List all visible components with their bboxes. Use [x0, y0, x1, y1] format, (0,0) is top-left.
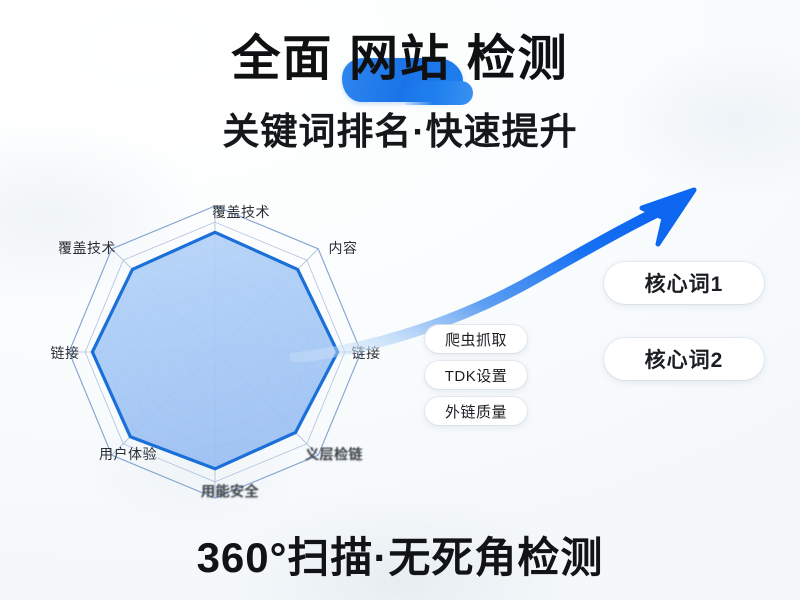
keyword-tag-核心词2[interactable]: 核心词2 [604, 338, 764, 380]
radar-axis-label-6: 链接 [51, 343, 80, 363]
feature-tag-爬虫抓取[interactable]: 爬虫抓取 [425, 325, 527, 353]
page-subtitle: 关键词排名·快速提升 [0, 101, 800, 155]
radar-axis-label-4: 用能安全 [201, 481, 259, 501]
feature-tag-TDK设置[interactable]: TDK设置 [425, 361, 527, 389]
feature-tag-外链质量[interactable]: 外链质量 [425, 397, 527, 425]
poster-canvas: 全面 网站 检测 关键词排名·快速提升 覆盖技术内容链接义层检链用能安全用户体验… [0, 0, 800, 600]
headline-block: 全面 网站 检测 关键词排名·快速提升 [0, 34, 800, 155]
keyword-tag-核心词1[interactable]: 核心词1 [604, 262, 764, 304]
radar-axis-label-5: 用户体验 [99, 444, 157, 464]
page-title-prefix: 全面 [231, 32, 333, 86]
radar-axis-label-1: 内容 [329, 238, 358, 258]
radar-axis-label-2: 链接 [352, 343, 381, 363]
page-title-highlight-text: 网站 [349, 32, 451, 86]
radar-series-polygon [92, 232, 337, 468]
radar-axis-label-3: 义层检链 [305, 444, 363, 464]
radar-axis-label-0: 覆盖技术 [212, 202, 270, 222]
page-title-highlight: 网站 [349, 34, 451, 86]
page-title: 全面 网站 检测 [231, 34, 568, 86]
radar-chart: 覆盖技术内容链接义层检链用能安全用户体验链接覆盖技术 [28, 196, 388, 513]
radar-axis-label-7: 覆盖技术 [58, 238, 116, 258]
footer-headline: 360°扫描·无死角检测 [0, 524, 800, 585]
page-title-suffix: 检测 [467, 32, 569, 86]
